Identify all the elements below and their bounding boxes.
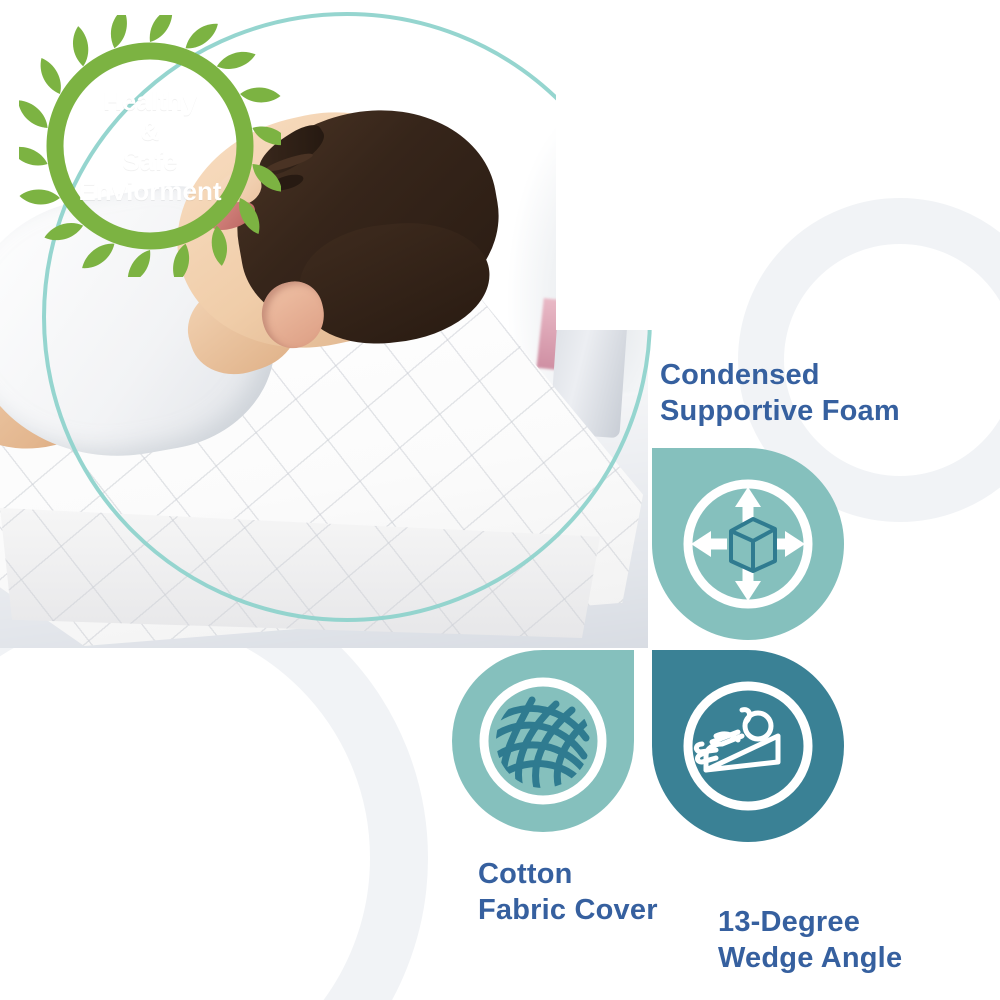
healthy-safe-environment-label: Healthy & Safe Enviorment — [78, 86, 221, 207]
feature-label-condensed-supportive-foam: Condensed Supportive Foam — [660, 358, 900, 430]
healthy-safe-environment-badge: Healthy & Safe Enviorment — [0, 0, 300, 292]
hero-circle-mask — [556, 0, 676, 330]
feature-label-wedge-angle: 13-Degree Wedge Angle — [718, 905, 902, 977]
product-feature-infographic: Condensed Supportive Foam — [0, 0, 1000, 1000]
baby-on-wedge-icon — [672, 670, 824, 822]
feature-label-cotton-fabric-cover: Cotton Fabric Cover — [478, 857, 658, 929]
feature-badge-cotton-fabric-cover — [452, 650, 634, 832]
compressed-cube-icon — [673, 469, 823, 619]
feature-badge-condensed-supportive-foam — [652, 448, 844, 640]
yarn-ball-icon — [468, 666, 618, 816]
feature-badge-wedge-angle — [652, 650, 844, 842]
